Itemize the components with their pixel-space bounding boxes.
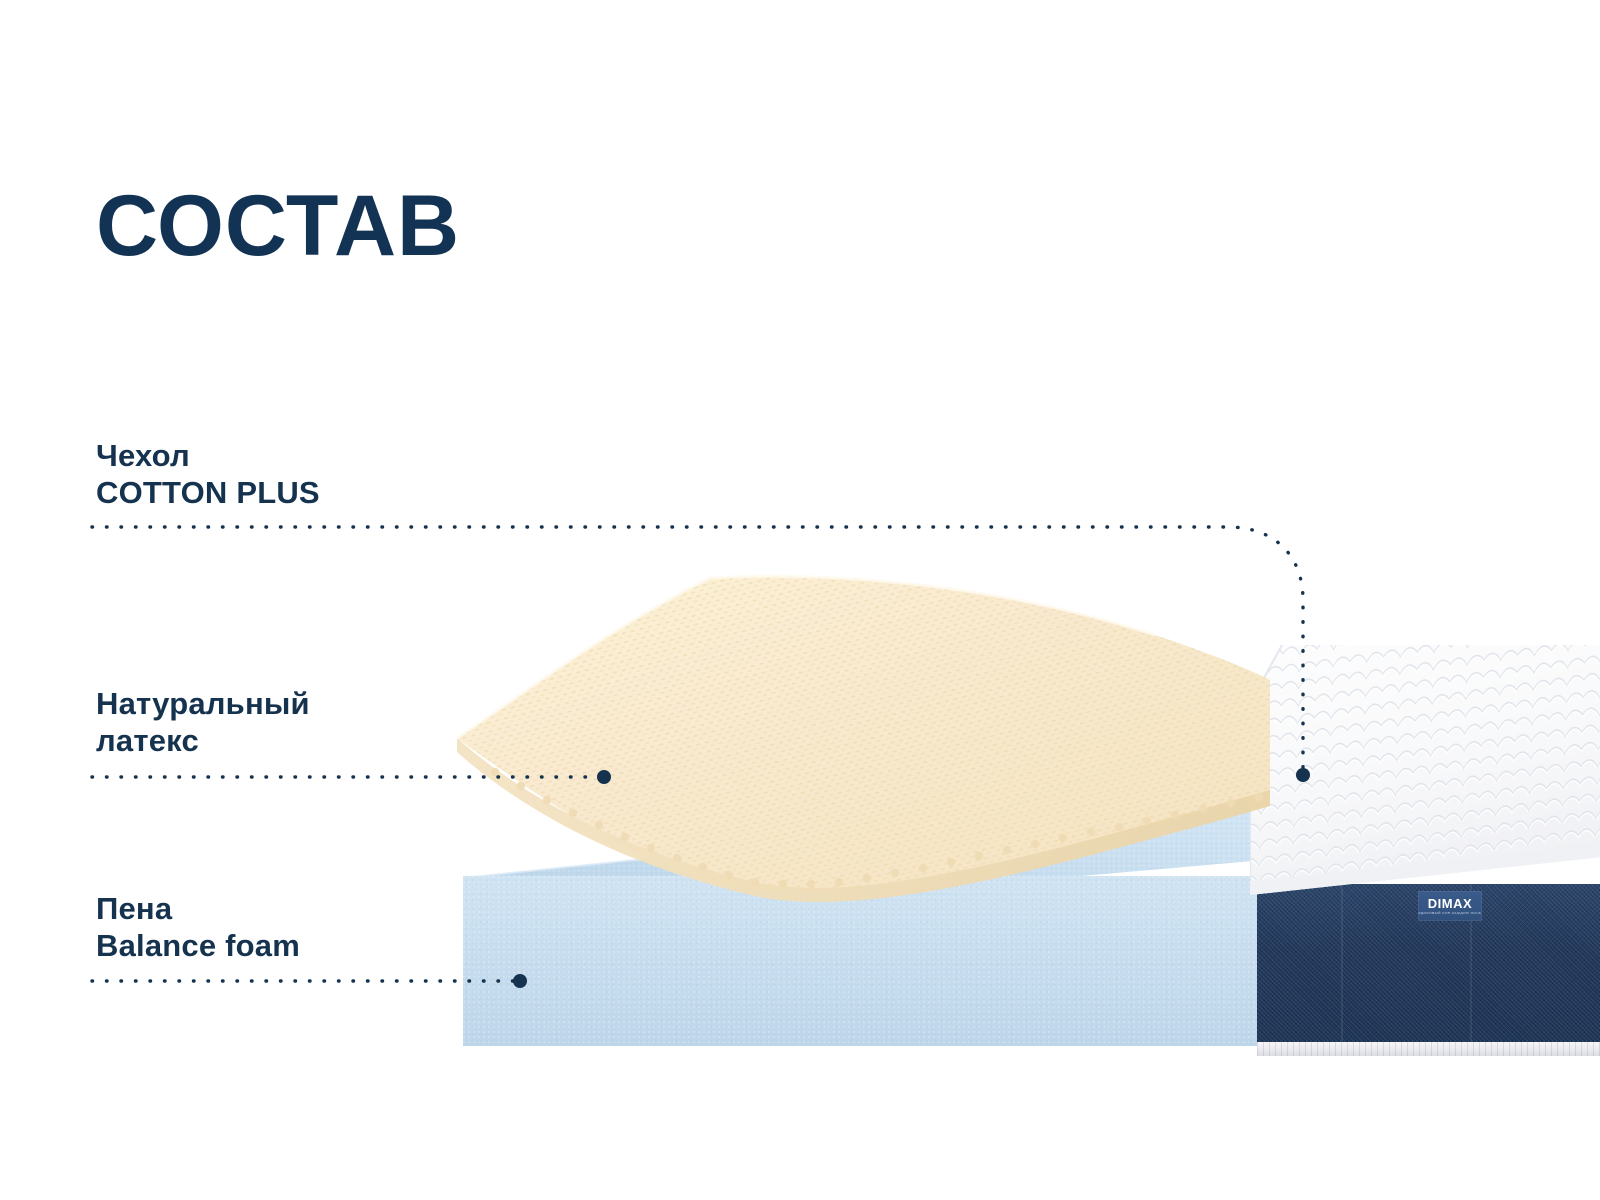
cover-bottom-piping <box>1257 1042 1600 1056</box>
cover-top-surface <box>1250 645 1600 895</box>
callout-cover-line1: Чехол <box>96 438 320 475</box>
composition-infographic: СОСТАВ <box>0 0 1600 1200</box>
callout-foam-line2: Balance foam <box>96 928 300 965</box>
brand-name: DIMAX <box>1428 897 1472 910</box>
callout-foam: Пена Balance foam <box>96 891 300 964</box>
callout-foam-line1: Пена <box>96 891 300 928</box>
callout-cover: Чехол COTTON PLUS <box>96 438 320 511</box>
callout-latex-line1: Натуральный <box>96 686 310 723</box>
mattress-illustration: DIMAX ЗДОРОВЫЙ СОН КАЖДУЮ НОЧЬ <box>0 0 1600 1200</box>
brand-label: DIMAX ЗДОРОВЫЙ СОН КАЖДУЮ НОЧЬ <box>1418 891 1482 921</box>
callout-cover-line2: COTTON PLUS <box>96 475 320 512</box>
callout-latex: Натуральный латекс <box>96 686 310 759</box>
latex-layer <box>455 560 1270 920</box>
brand-tagline: ЗДОРОВЫЙ СОН КАЖДУЮ НОЧЬ <box>1419 912 1482 915</box>
callout-latex-line2: латекс <box>96 723 310 760</box>
